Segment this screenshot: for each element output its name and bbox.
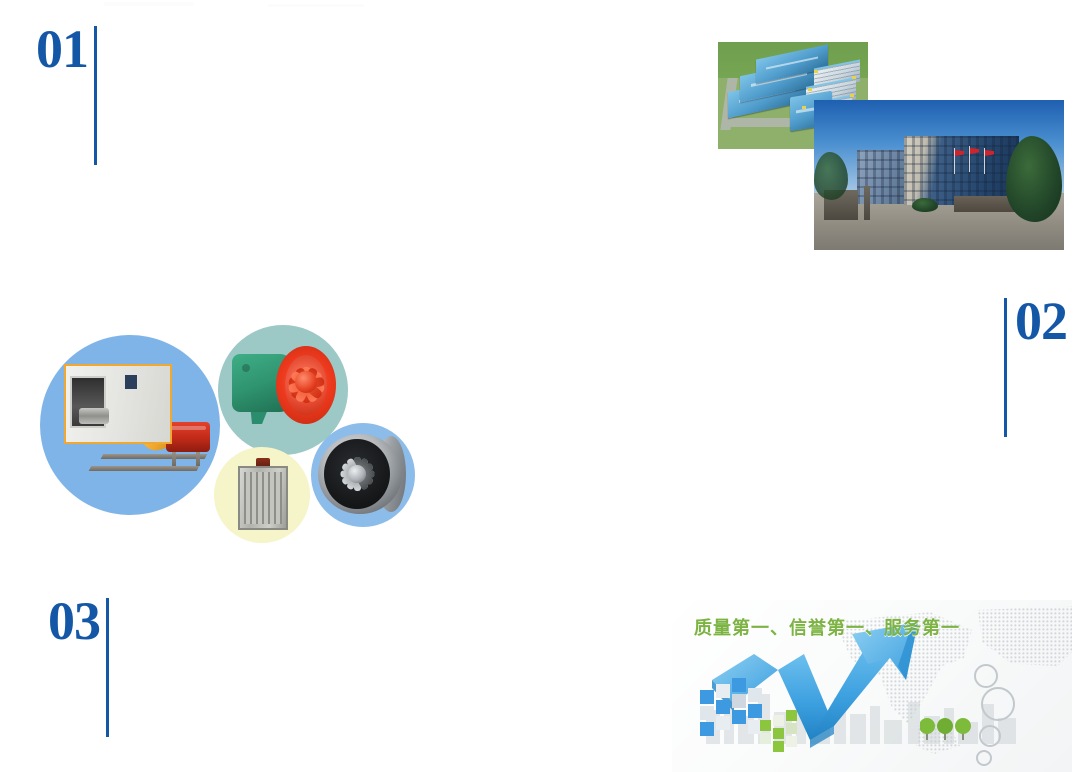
section-number-01: 01 [36, 26, 88, 72]
impeller-housing [318, 434, 402, 514]
factory-accent-3 [802, 106, 806, 109]
section-marker-02: 02 [1004, 298, 1067, 437]
impeller-hub [348, 465, 366, 483]
damper-slats [244, 472, 282, 524]
factory-accent-1 [814, 70, 818, 73]
impeller-mouth [324, 439, 390, 509]
shrub-center [912, 198, 938, 212]
box-fan-leg-2 [196, 450, 200, 466]
axial-fan-ring [276, 346, 336, 424]
quality-slogan-banner: 质量第一、信誉第一、服务第一 [672, 600, 1072, 772]
page-root: 01 02 03 [0, 0, 1074, 772]
box-fan-base-rail-1 [89, 466, 200, 471]
office-main-building [904, 136, 1019, 205]
flag-pole-1 [954, 148, 955, 174]
box-fan-leg-1 [172, 450, 176, 466]
main-building-windows [904, 136, 1019, 205]
factory-accent-5 [850, 94, 854, 97]
damper-frame [238, 466, 288, 530]
factory-accent-2 [808, 88, 812, 91]
factory-accent-4 [852, 76, 856, 79]
section-rule-01 [94, 26, 97, 165]
box-fan-control-panel [124, 374, 138, 390]
bubble-circles-icon [964, 656, 1020, 766]
product-air-damper [238, 458, 288, 532]
faint-artifact-top-left [104, 2, 194, 6]
product-axial-fan [232, 342, 338, 438]
product-fan-impeller [318, 434, 408, 516]
section-number-02: 02 [1015, 298, 1067, 344]
office-building-photo [814, 100, 1064, 250]
gate-post [864, 186, 870, 220]
green-cube-cluster-icon [758, 706, 802, 754]
axial-fan-hub [295, 371, 317, 393]
section-number-03: 03 [48, 598, 100, 644]
box-fan-motor [166, 422, 210, 452]
box-fan-cabinet [64, 364, 172, 444]
banner-slogan-text: 质量第一、信誉第一、服务第一 [694, 614, 960, 640]
section-rule-03 [106, 598, 109, 737]
flag-pole-3 [984, 148, 985, 174]
box-fan-wheel [79, 408, 109, 424]
faint-artifact-top-right [268, 4, 364, 7]
product-box-fan-unit [56, 358, 224, 493]
blue-cube-cluster-icon [696, 668, 766, 746]
box-fan-base-rail-2 [101, 454, 208, 459]
box-fan-inlet-opening [70, 376, 106, 428]
section-marker-03: 03 [48, 598, 109, 737]
flag-pole-2 [969, 146, 970, 172]
section-rule-02 [1004, 298, 1007, 437]
section-marker-01: 01 [36, 26, 97, 165]
